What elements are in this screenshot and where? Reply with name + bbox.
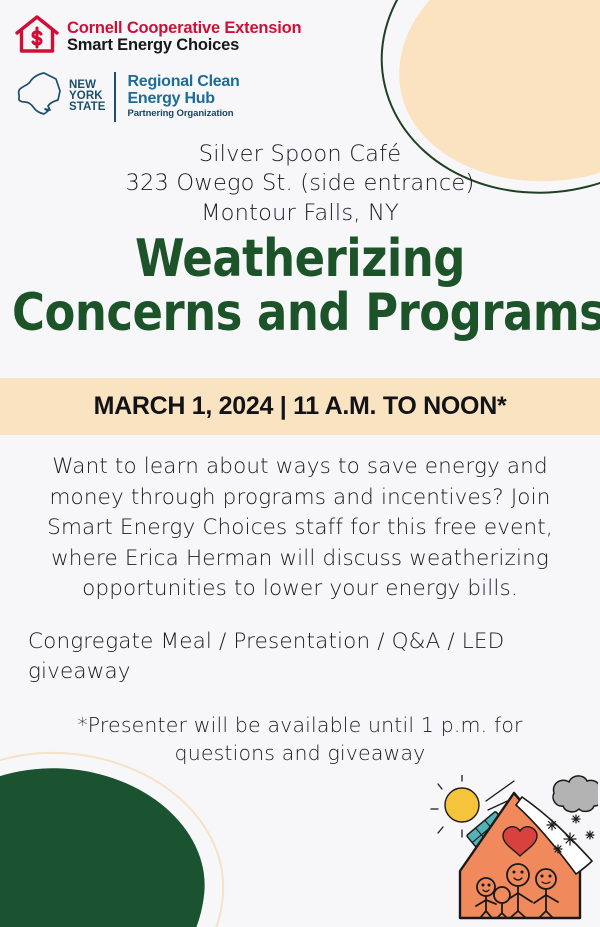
date-time-text: MARCH 1, 2024 | 11 A.M. TO NOON* xyxy=(94,392,507,421)
logo-group: Cornell Cooperative Extension Smart Ener… xyxy=(14,13,354,124)
house-family-energy-illustration xyxy=(430,775,598,925)
date-time-banner: MARCH 1, 2024 | 11 A.M. TO NOON* xyxy=(0,378,600,435)
logo-divider xyxy=(114,72,116,122)
new-york-state-outline-icon xyxy=(14,69,66,124)
house-dollar-icon xyxy=(14,13,60,60)
page-title: Weatherizing Concerns and Programs xyxy=(12,232,588,340)
body-copy: Want to learn about ways to save energy … xyxy=(0,452,600,768)
venue-address: 323 Owego St. (side entrance) xyxy=(0,169,600,198)
hub-logo-line3: Partnering Organization xyxy=(128,109,240,119)
agenda-paragraph: Congregate Meal / Presentation / Q&A / L… xyxy=(0,627,600,688)
page-title-line2: Concerns and Programs xyxy=(12,286,588,340)
description-paragraph: Want to learn about ways to save energy … xyxy=(0,452,600,605)
new-york-state-wordmark: NEW YORK STATE xyxy=(69,80,106,114)
cornell-logo-line1: Cornell Cooperative Extension xyxy=(67,20,301,37)
decorative-cream-outline-curve xyxy=(0,741,233,927)
hub-logo-line1: Regional Clean xyxy=(128,74,240,90)
cornell-logo-text: Cornell Cooperative Extension Smart Ener… xyxy=(67,20,301,54)
venue-name: Silver Spoon Café xyxy=(0,140,600,169)
venue-block: Silver Spoon Café 323 Owego St. (side en… xyxy=(0,140,600,228)
decorative-green-blob xyxy=(0,753,216,927)
venue-city: Montour Falls, NY xyxy=(0,199,600,228)
snow-cloud-icon xyxy=(553,776,598,812)
nys-line-state: STATE xyxy=(69,102,106,113)
hub-logo-line2: Energy Hub xyxy=(128,91,240,107)
poster-canvas: Cornell Cooperative Extension Smart Ener… xyxy=(0,0,600,927)
new-york-state-mark: NEW YORK STATE xyxy=(14,69,106,124)
cornell-cooperative-extension-logo: Cornell Cooperative Extension Smart Ener… xyxy=(14,13,354,60)
cornell-logo-line2: Smart Energy Choices xyxy=(67,37,301,54)
regional-clean-energy-hub-logo: NEW YORK STATE Regional Clean Energy Hub… xyxy=(14,69,354,124)
footnote-paragraph: *Presenter will be available until 1 p.m… xyxy=(0,711,600,768)
page-title-line1: Weatherizing xyxy=(12,232,588,286)
hub-logo-text: Regional Clean Energy Hub Partnering Org… xyxy=(128,74,240,119)
sun-icon xyxy=(431,775,479,837)
